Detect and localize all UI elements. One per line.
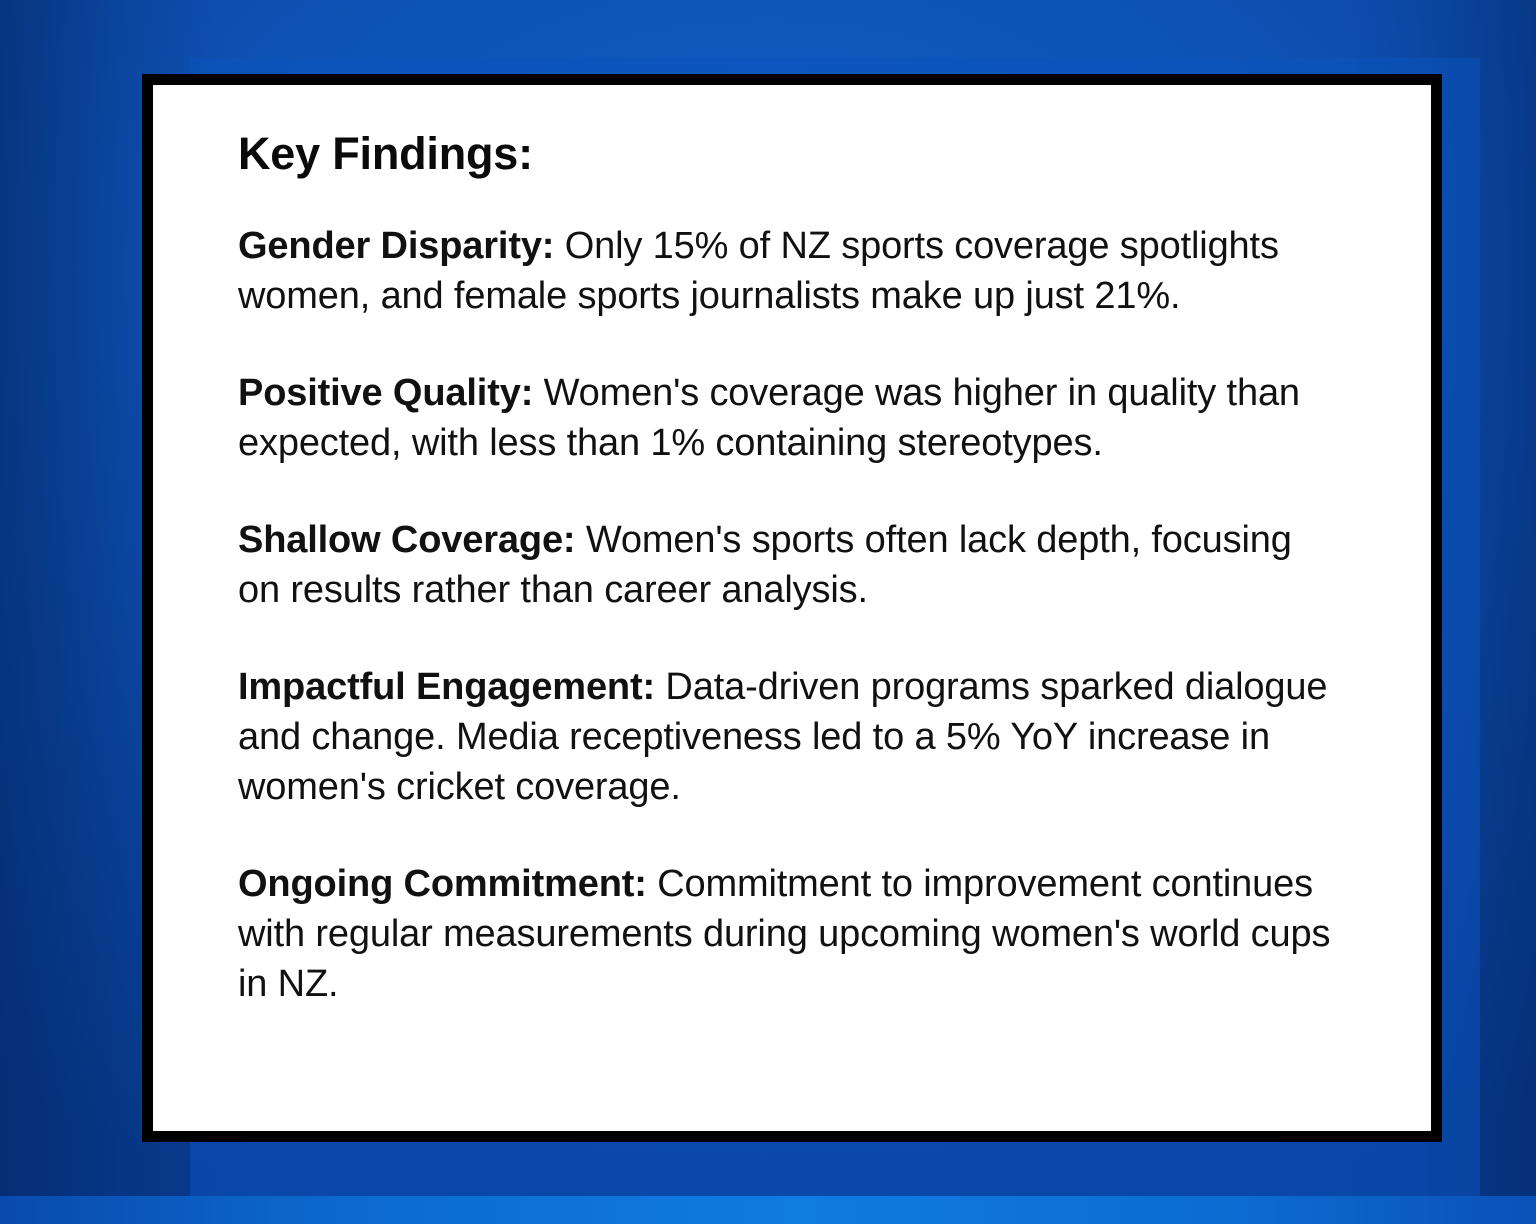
finding-lead-label: Gender Disparity: — [238, 225, 554, 267]
page-title: Key Findings: — [238, 129, 1336, 179]
content-card: Key Findings: Gender Disparity: Only 15%… — [142, 74, 1442, 1142]
finding-item-shallow-coverage: Shallow Coverage: Women's sports often l… — [238, 515, 1336, 615]
finding-lead-label: Positive Quality: — [238, 372, 533, 414]
finding-lead-label: Ongoing Commitment: — [238, 863, 647, 905]
finding-item-gender-disparity: Gender Disparity: Only 15% of NZ sports … — [238, 221, 1336, 321]
finding-item-ongoing-commitment: Ongoing Commitment: Commitment to improv… — [238, 859, 1336, 1009]
background-accent-band — [0, 1196, 1536, 1224]
card-content: Key Findings: Gender Disparity: Only 15%… — [238, 129, 1336, 1009]
finding-item-impactful-engagement: Impactful Engagement: Data-driven progra… — [238, 662, 1336, 812]
finding-lead-label: Shallow Coverage: — [238, 519, 575, 561]
finding-item-positive-quality: Positive Quality: Women's coverage was h… — [238, 368, 1336, 468]
finding-lead-label: Impactful Engagement: — [238, 666, 655, 708]
